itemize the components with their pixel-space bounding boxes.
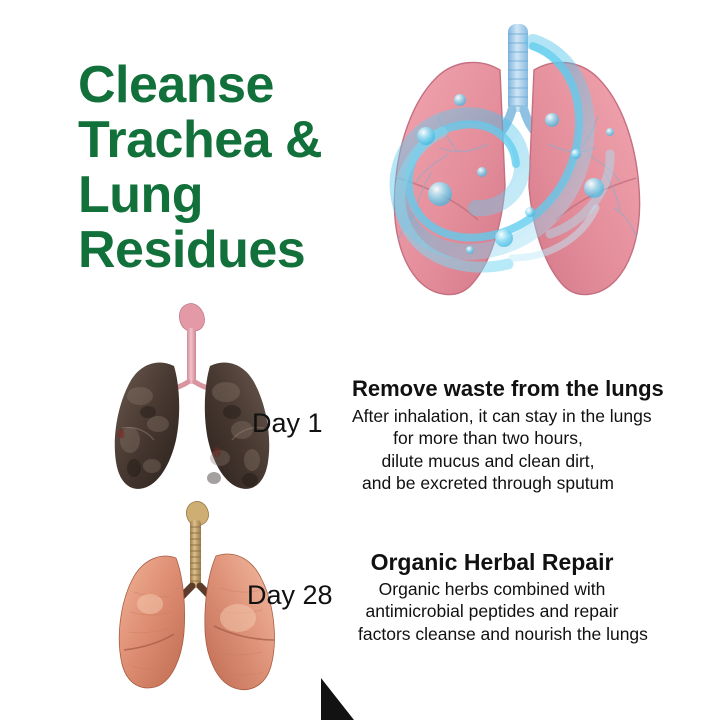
step-text-day-1: Remove waste from the lungs After inhala…	[352, 376, 624, 494]
step-line: and be excreted through sputum	[352, 472, 624, 494]
page-title-line-2: Trachea &	[78, 113, 378, 168]
step-line: dilute mucus and clean dirt,	[352, 450, 624, 472]
diseased-dark-lungs-icon	[100, 300, 290, 500]
day-label-28: Day 28	[247, 580, 333, 611]
step-line: Organic herbs combined with	[358, 578, 626, 600]
page-title-line-3: Lung	[78, 168, 378, 223]
step-line: for more than two hours,	[352, 427, 624, 449]
step-heading-day-28: Organic Herbal Repair	[358, 548, 626, 576]
day-label-1: Day 1	[252, 408, 323, 439]
step-text-day-28: Organic Herbal Repair Organic herbs comb…	[358, 548, 626, 645]
step-line: After inhalation, it can stay in the lun…	[352, 405, 624, 427]
page-title-line-1: Cleanse	[78, 58, 378, 113]
poster-canvas: Cleanse Trachea & Lung Residues	[0, 0, 720, 720]
step-line: antimicrobial peptides and repair	[358, 600, 626, 622]
page-title: Cleanse Trachea & Lung Residues	[78, 58, 378, 278]
step-line: factors cleanse and nourish the lungs	[358, 623, 626, 645]
page-title-line-4: Residues	[78, 223, 378, 278]
step-heading-day-1: Remove waste from the lungs	[352, 376, 624, 403]
lungs-with-water-swirl-icon	[362, 12, 672, 312]
